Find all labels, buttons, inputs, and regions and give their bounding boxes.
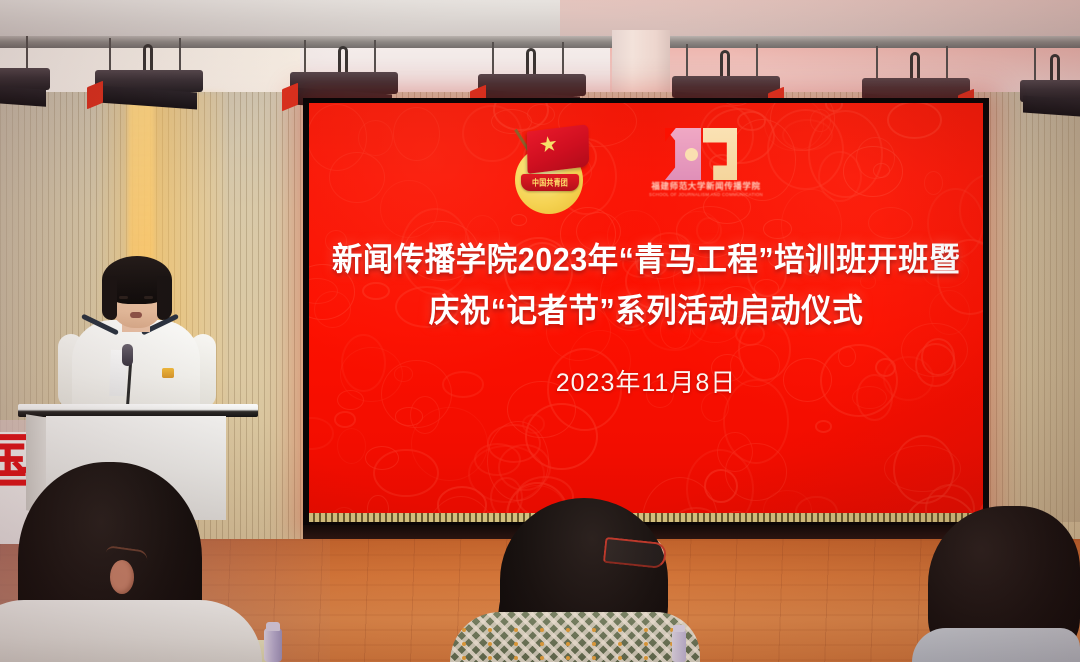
stage-spotlight: [1020, 56, 1080, 118]
fabric-pattern-dot: [488, 656, 492, 660]
fabric-pattern-dot: [462, 628, 466, 632]
fabric-pattern-dot: [540, 656, 544, 660]
fabric-pattern-dot: [514, 628, 518, 632]
stage-spotlight: [95, 46, 203, 108]
screen-event-date: 2023年11月8日: [309, 363, 983, 399]
speaker-mouth: [130, 312, 142, 318]
fabric-pattern-dot: [514, 642, 518, 646]
water-bottle: [264, 628, 282, 662]
screen-title-line-2: 庆祝“记者节”系列活动启动仪式: [309, 284, 983, 339]
university-name-text: 福建师范大学新闻传播学院: [631, 180, 781, 192]
fabric-pattern-dot: [644, 656, 648, 660]
water-bottle-cap: [673, 625, 685, 632]
screen-title-line-1: 新闻传播学院2023年“青马工程”培训班开班暨: [309, 233, 983, 288]
screen-title-block: 新闻传播学院2023年“青马工程”培训班开班暨 庆祝“记者节”系列活动启动仪式 …: [309, 235, 983, 399]
fabric-pattern-dot: [540, 628, 544, 632]
communist-youth-league-emblem: 中国共青团: [511, 126, 597, 216]
logo-center-dot: [685, 148, 698, 161]
audience-woman-patterned-top: [450, 612, 700, 662]
fabric-pattern-dot: [566, 656, 570, 660]
fabric-pattern-dot: [592, 656, 596, 660]
audience-person-right-shirt: [912, 628, 1080, 662]
led-display-frame: 中国共青团 福建师范大学新闻传播学院 SCHOOL OF JOURNALISM …: [303, 98, 989, 530]
fabric-pattern-dot: [592, 628, 596, 632]
university-subtitle-text: SCHOOL OF JOURNALISM AND COMMUNICATION: [631, 192, 781, 197]
fabric-pattern-dot: [540, 642, 544, 646]
fabric-pattern-dot: [644, 628, 648, 632]
emblem-banner-text: 中国共青团: [532, 176, 568, 189]
fabric-pattern-dot: [566, 642, 570, 646]
fabric-pattern-dot: [514, 656, 518, 660]
fabric-pattern-dot: [462, 642, 466, 646]
audience-man-ear: [110, 560, 134, 594]
red-flag-icon: [527, 124, 589, 174]
water-bottle: [672, 630, 686, 662]
logo-mark: [631, 126, 781, 184]
speaker-lapel-badge: [162, 368, 174, 378]
fabric-pattern-dot: [592, 642, 596, 646]
audience-man-white-shirt: [0, 600, 262, 662]
logo-row: 中国共青团 福建师范大学新闻传播学院 SCHOOL OF JOURNALISM …: [511, 125, 781, 217]
logo-shape-right: [703, 128, 737, 180]
fabric-pattern-dot: [618, 628, 622, 632]
led-bottom-trim: [309, 513, 983, 522]
fabric-pattern-dot: [488, 642, 492, 646]
fabric-pattern-dot: [618, 656, 622, 660]
fabric-pattern-dot: [644, 642, 648, 646]
speaker-eye-left: [119, 296, 128, 299]
water-bottle-cap: [266, 622, 280, 631]
emblem-banner: 中国共青团: [521, 174, 579, 191]
podium-microphone: [122, 344, 133, 366]
speaker-eye-right: [144, 296, 153, 299]
university-school-logo: 福建师范大学新闻传播学院 SCHOOL OF JOURNALISM AND CO…: [631, 126, 781, 216]
fabric-pattern-dot: [566, 628, 570, 632]
fabric-pattern-dot: [488, 628, 492, 632]
podium-and-speaker: [24, 256, 254, 496]
fabric-pattern-dot: [618, 642, 622, 646]
fabric-pattern-dot: [462, 656, 466, 660]
led-display-surface: 中国共青团 福建师范大学新闻传播学院 SCHOOL OF JOURNALISM …: [309, 103, 983, 513]
speaker-hair-right: [157, 276, 172, 320]
speaker-hair-left: [102, 276, 117, 320]
event-photo-scene: 中国共青团 福建师范大学新闻传播学院 SCHOOL OF JOURNALISM …: [0, 0, 1080, 662]
stage-spotlight: [0, 44, 50, 106]
